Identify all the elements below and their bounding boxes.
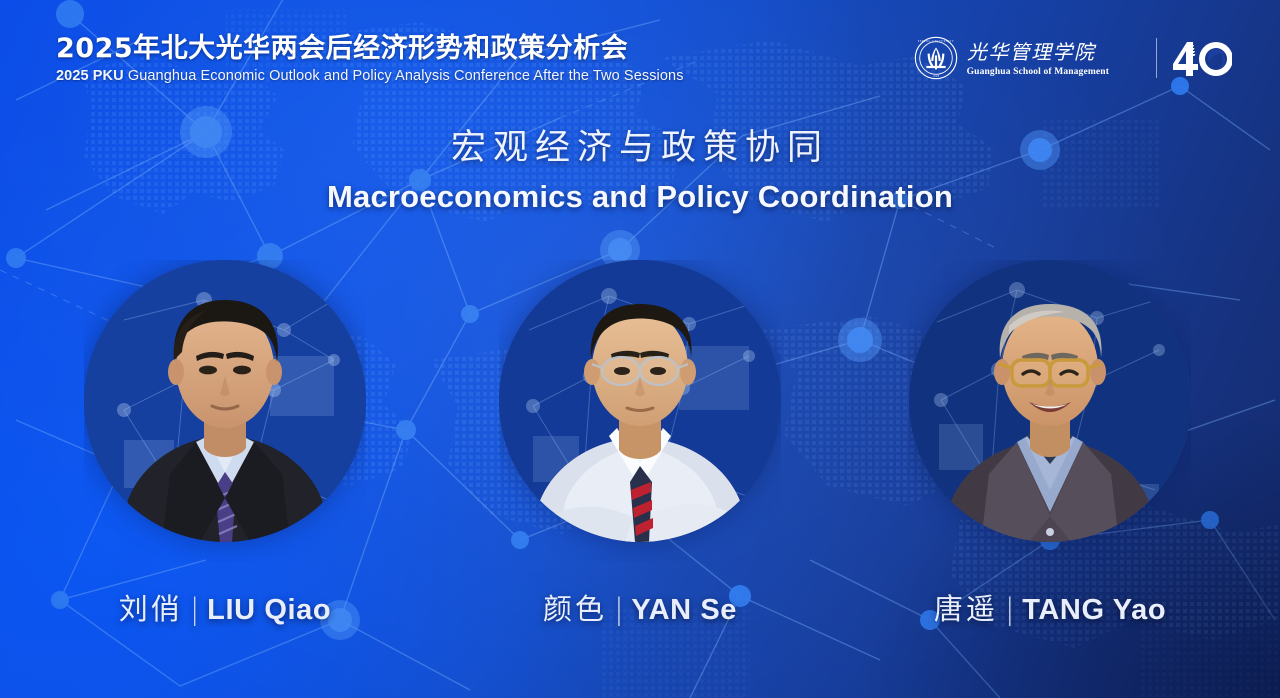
speaker-photo-wrap-0 — [84, 260, 366, 562]
conference-title-en-rest: Guanghua Economic Outlook and Policy Ana… — [124, 68, 684, 84]
session-title-en: Macroeconomics and Policy Coordination — [0, 179, 1280, 215]
session-title-block: 宏观经济与政策协同 Macroeconomics and Policy Coor… — [0, 126, 1280, 215]
speaker-name-cn-2: 唐遥 — [934, 592, 998, 626]
guanghua-school-name-en: Guanghua School of Management — [967, 67, 1143, 77]
speaker-name-separator-2: | — [1005, 592, 1015, 626]
speaker-name-en-2: TANG Yao — [1022, 594, 1166, 626]
svg-text:PEKING UNIVERSITY: PEKING UNIVERSITY — [917, 40, 954, 43]
speaker-portrait-yan-se — [499, 260, 781, 542]
conference-title-en: 2025 PKU Guanghua Economic Outlook and P… — [56, 68, 684, 84]
svg-text:光华管理学院: 光华管理学院 — [967, 41, 1097, 64]
guanghua-logo-block: PEKING UNIVERSITY 1898 光华管理学院 Guanghua S… — [914, 30, 1232, 86]
speaker-name-separator-1: | — [614, 592, 624, 626]
speaker-portrait-liu-qiao — [84, 260, 366, 542]
slide-header: 2025年北大光华两会后经济形势和政策分析会 2025 PKU Guanghua… — [0, 0, 1280, 104]
speakers-row: 刘俏|LIU Qiao — [0, 260, 1280, 640]
conference-title-en-bold: 2025 PKU — [56, 68, 124, 84]
speaker-name-cn-1: 颜色 — [543, 592, 607, 626]
pku-seal-icon: PEKING UNIVERSITY 1898 — [914, 36, 958, 80]
speaker-card-0[interactable]: 刘俏|LIU Qiao — [75, 260, 375, 628]
conference-title-block: 2025年北大光华两会后经济形势和政策分析会 2025 PKU Guanghua… — [56, 34, 684, 84]
guanghua-school-name-cn-icon: 光华管理学院 — [967, 39, 1143, 65]
slide-canvas: 2025年北大光华两会后经济形势和政策分析会 2025 PKU Guanghua… — [0, 0, 1280, 698]
speaker-name-1: 颜色|YAN Se — [490, 586, 790, 628]
speaker-photo-wrap-1 — [499, 260, 781, 562]
speaker-card-2[interactable]: 唐遥|TANG Yao — [900, 260, 1200, 628]
speaker-name-en-1: YAN Se — [631, 594, 737, 626]
speaker-name-2: 唐遥|TANG Yao — [900, 586, 1200, 628]
conference-title-cn: 2025年北大光华两会后经济形势和政策分析会 — [56, 34, 684, 64]
speaker-name-separator-0: | — [190, 592, 200, 626]
40-anniversary-icon — [1170, 39, 1232, 77]
svg-text:1898: 1898 — [932, 75, 939, 78]
speaker-portrait-tang-yao — [909, 260, 1191, 542]
speaker-name-en-0: LIU Qiao — [207, 594, 331, 626]
session-title-cn: 宏观经济与政策协同 — [0, 126, 1280, 172]
speaker-photo-wrap-2 — [909, 260, 1191, 562]
guanghua-wordmark: 光华管理学院 Guanghua School of Management — [967, 39, 1143, 77]
speaker-name-0: 刘俏|LIU Qiao — [75, 586, 375, 628]
logo-divider — [1156, 38, 1158, 78]
speaker-card-1[interactable]: 颜色|YAN Se — [490, 260, 790, 628]
speaker-name-cn-0: 刘俏 — [119, 592, 183, 626]
